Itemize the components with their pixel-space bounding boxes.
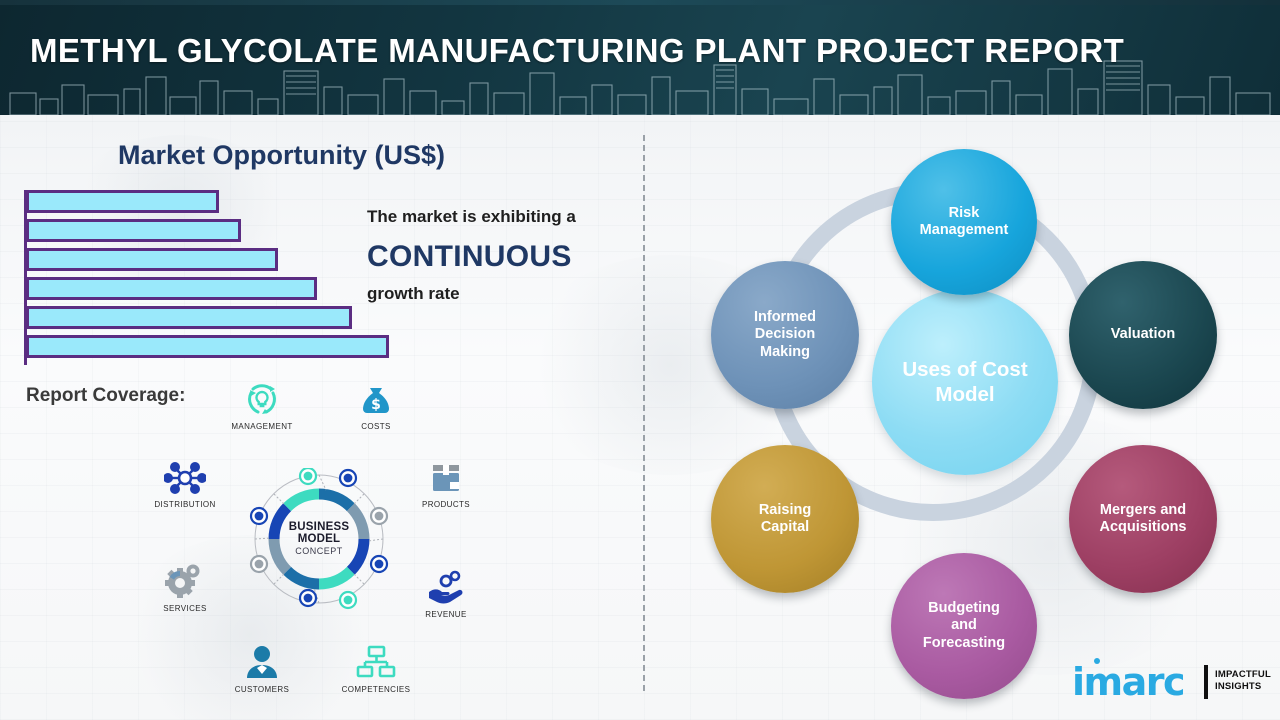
business-model-wheel: BUSINESS MODEL CONCEPT (248, 468, 390, 610)
callout-line-2: growth rate (367, 284, 460, 304)
node-valuation[interactable]: Valuation (1069, 261, 1217, 409)
slide-root: METHYL GLYCOLATE MANUFACTURING PLANT PRO… (0, 0, 1280, 720)
uses-of-cost-model-diagram: Uses of Cost Model Risk Management Valua… (672, 133, 1242, 703)
logo-tagline-line-2: INSIGHTS (1215, 681, 1271, 693)
node-line-1: Mergers and (1095, 502, 1190, 519)
node-line-1: Raising (755, 502, 815, 519)
coverage-label: SERVICES (139, 604, 231, 613)
money-bag-icon: $ (330, 380, 422, 420)
coverage-label: DISTRIBUTION (139, 500, 231, 509)
business-model-diagram-icon (248, 468, 390, 610)
logo-tagline: IMPACTFUL INSIGHTS (1215, 669, 1271, 693)
node-line-1: Informed (750, 309, 820, 326)
callout-emphasis: CONTINUOUS (367, 240, 572, 274)
panel-divider (643, 135, 645, 691)
market-opportunity-bar-chart (24, 190, 424, 365)
node-line-2: and (919, 617, 1009, 634)
node-line-3: Making (750, 344, 820, 361)
center-node-uses-of-cost-model: Uses of Cost Model (872, 289, 1058, 475)
node-budgeting-and-forecasting[interactable]: Budgeting and Forecasting (891, 553, 1037, 699)
svg-text:$: $ (371, 397, 381, 413)
node-line-2: Acquisitions (1095, 519, 1190, 536)
logo-divider-bar (1204, 665, 1208, 699)
header-top-accent (0, 0, 1280, 5)
node-line-2: Capital (755, 519, 815, 536)
node-informed-decision-making[interactable]: Informed Decision Making (711, 261, 859, 409)
bar-1 (26, 190, 219, 213)
bar-5 (26, 306, 352, 329)
coverage-label: COMPETENCIES (330, 685, 422, 694)
network-hub-icon (139, 458, 231, 498)
coverage-item-management: MANAGEMENT (216, 380, 308, 431)
coverage-item-competencies: COMPETENCIES (330, 643, 422, 694)
bar-4 (26, 277, 317, 300)
logo-wordmark: imarc (1072, 662, 1184, 702)
center-line-1: Uses of (902, 358, 976, 381)
coverage-label: PRODUCTS (400, 500, 492, 509)
node-line-1: Valuation (1107, 326, 1179, 343)
coverage-item-distribution: DISTRIBUTION (139, 458, 231, 509)
page-title: METHYL GLYCOLATE MANUFACTURING PLANT PRO… (30, 32, 1230, 70)
coverage-label: REVENUE (400, 610, 492, 619)
node-line-1: Risk (916, 205, 1013, 222)
coverage-label: MANAGEMENT (216, 422, 308, 431)
logo-tagline-line-1: IMPACTFUL (1215, 669, 1271, 681)
imarc-logo: imarc IMPACTFUL INSIGHTS (1072, 660, 1268, 706)
node-raising-capital[interactable]: Raising Capital (711, 445, 859, 593)
node-line-2: Management (916, 222, 1013, 239)
hand-coins-icon (400, 568, 492, 608)
node-mergers-and-acquisitions[interactable]: Mergers and Acquisitions (1069, 445, 1217, 593)
coverage-label: CUSTOMERS (216, 685, 308, 694)
node-line-2: Decision (750, 326, 820, 343)
report-coverage-label: Report Coverage: (26, 385, 185, 407)
coverage-item-revenue: REVENUE (400, 568, 492, 619)
package-box-icon (400, 458, 492, 498)
coverage-item-products: PRODUCTS (400, 458, 492, 509)
coverage-item-customers: CUSTOMERS (216, 643, 308, 694)
callout-line-1: The market is exhibiting a (367, 207, 576, 227)
header-banner: METHYL GLYCOLATE MANUFACTURING PLANT PRO… (0, 0, 1280, 115)
lightbulb-cycle-icon (216, 380, 308, 420)
coverage-item-costs: $ COSTS (330, 380, 422, 431)
bar-6 (26, 335, 389, 358)
person-user-icon (216, 643, 308, 683)
bar-3 (26, 248, 278, 271)
node-line-3: Forecasting (919, 635, 1009, 652)
node-risk-management[interactable]: Risk Management (891, 149, 1037, 295)
node-line-1: Budgeting (919, 600, 1009, 617)
coverage-item-services: SERVICES (139, 562, 231, 613)
gears-icon (139, 562, 231, 602)
coverage-label: COSTS (330, 422, 422, 431)
org-chart-icon (330, 643, 422, 683)
market-opportunity-title: Market Opportunity (US$) (118, 140, 445, 171)
bar-2 (26, 219, 241, 242)
